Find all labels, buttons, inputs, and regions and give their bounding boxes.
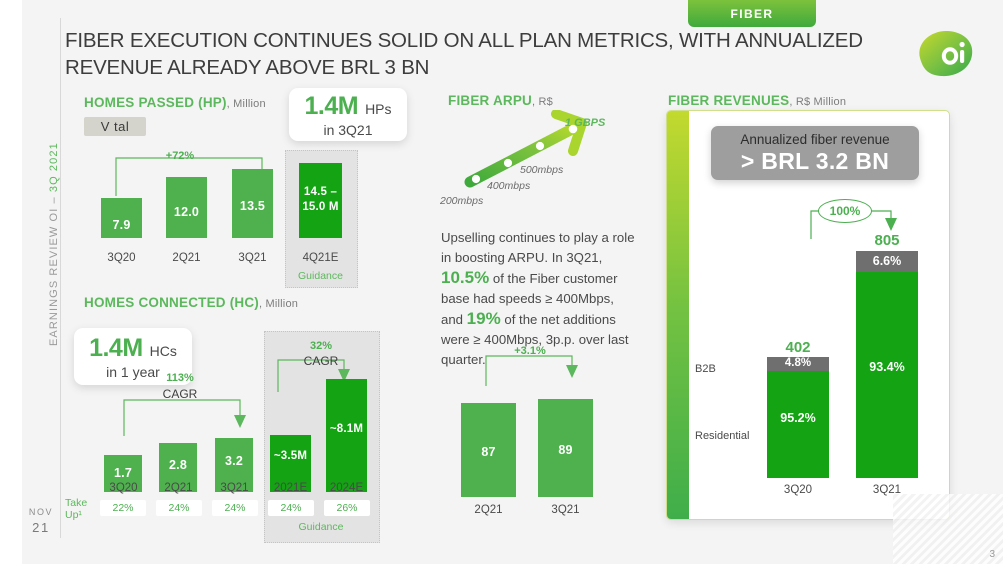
hp-bar-value-2: 13.5 [232,199,273,213]
fiber-arpu-heading-sub: , R$ [532,96,553,108]
hp-guidance-label: Guidance [290,270,351,282]
hc-bar-value-2: 3.2 [215,454,253,468]
hc-bar-value-1: 2.8 [159,458,197,472]
slide: EARNINGS REVIEW OI – 3Q 2021 NOV 21 FIBE… [0,0,1003,564]
hc-bar-value-3: ~3.5M [270,450,311,462]
revenue-residential-share-3q20: 95.2% [767,411,829,425]
hc-axis-label-4: 2024E [316,482,377,494]
oi-logo [912,28,974,78]
deck-date-month: NOV [22,505,60,520]
take-up-label: Take Up¹ [65,497,99,521]
take-up-cell-3: 24% [268,500,314,516]
hp-bar-value-0: 7.9 [101,218,142,232]
arpu-growth-label: +3.1% [495,345,565,357]
speed-label-1: 400mbps [487,180,530,192]
revenue-residential-segment-3q20: 95.2% [767,371,829,478]
fiber-arpu-heading: FIBER ARPU, R$ [448,93,553,108]
arpu-axis-label-0: 2Q21 [458,504,519,516]
hp-bar-3q20: 7.9 [101,198,142,238]
revenue-b2b-share-3q21: 6.6% [856,254,918,268]
revenue-b2b-segment-3q20: 4.8% [767,357,829,371]
hp-bar-value-1: 12.0 [166,205,207,219]
fiber-tag: FIBER [688,0,816,27]
hp-bar-4q21e: 14.5 – 15.0 M [299,163,342,238]
deck-date-year: 21 [22,520,60,535]
homes-connected-heading: HOMES CONNECTED (HC), Million [84,295,298,310]
hp-axis-label-1: 2Q21 [156,252,217,264]
hp-axis-label-3: 4Q21E [290,252,351,264]
take-up-label-line1: Take [65,497,99,509]
homes-passed-heading: HOMES PASSED (HP), Million [84,95,266,110]
revenue-axis-label-0: 3Q20 [767,484,829,496]
homes-connected-heading-sub: , Million [259,298,298,310]
deck-label-prefix: EARNINGS REVIEW OI – [48,192,60,346]
revenue-total-3q21: 805 [856,232,918,249]
corner-hatch-decoration [893,494,1003,564]
hp-axis-label-0: 3Q20 [91,252,152,264]
page-number: 3 [989,549,995,560]
arpu-bar-value-0: 87 [461,445,516,459]
arpu-bar-value-1: 89 [538,443,593,457]
hc-callout-unit: HCs [150,343,177,359]
hp-bar-3q21: 13.5 [232,169,273,238]
speed-label-2: 500mbps [520,164,563,176]
hc-axis-label-1: 2Q21 [148,482,209,494]
hc-cagr-fwd-label: CAGR [296,354,346,368]
annualized-revenue-badge: Annualized fiber revenue > BRL 3.2 BN [711,126,919,180]
hc-axis-label-3: 2021E [260,482,321,494]
hp-growth-label: +72% [150,150,210,162]
take-up-cell-4: 26% [324,500,370,516]
hc-cagr-fwd-pct: 32% [296,340,346,352]
arpu-text-part1: Upselling continues to play a role in bo… [441,230,635,265]
revenue-growth-label: 100% [818,199,872,223]
arpu-bar-2q21: 87 [461,403,516,497]
revenue-residential-share-3q21: 93.4% [856,360,918,374]
hp-bar-2q21: 12.0 [166,177,207,238]
annualized-revenue-value: > BRL 3.2 BN [741,148,889,175]
left-rail: EARNINGS REVIEW OI – 3Q 2021 [22,0,60,564]
hp-callout-unit: HPs [365,101,391,117]
arpu-axis-label-1: 3Q21 [535,504,596,516]
homes-passed-heading-main: HOMES PASSED (HP) [84,95,227,110]
revenue-series-label-b2b: B2B [695,363,716,375]
take-up-cell-2: 24% [212,500,258,516]
fiber-revenues-heading-main: FIBER REVENUES [668,93,789,108]
hp-callout-card: 1.4M HPs in 3Q21 [289,88,407,141]
arpu-bar-3q21: 89 [538,399,593,497]
arpu-highlight-1: 10.5% [441,268,489,287]
take-up-cell-0: 22% [100,500,146,516]
speed-label-0: 200mbps [440,195,483,207]
hp-bar-value-3: 14.5 – 15.0 M [299,185,342,215]
rail-divider [60,18,61,538]
deck-vertical-label: EARNINGS REVIEW OI – 3Q 2021 [48,46,60,346]
deck-date: NOV 21 [22,505,60,535]
hc-callout-line1: 1.4M HCs [89,334,177,363]
homes-connected-heading-main: HOMES CONNECTED (HC) [84,295,259,310]
deck-label-period: 3Q 2021 [48,142,60,192]
homes-passed-heading-sub: , Million [227,98,266,110]
fiber-revenues-heading-sub: , R$ Million [789,96,846,108]
hc-bar-value-4: ~8.1M [326,423,367,435]
hc-cagr-hist-pct: 113% [150,372,210,384]
revenue-total-3q20: 402 [767,339,829,356]
hp-callout-line1: 1.4M HPs [304,92,391,121]
hc-guidance-label: Guidance [264,521,378,533]
panel-accent-stripe [667,111,689,519]
hp-callout-line2: in 3Q21 [323,122,372,138]
hc-bar-2024e: ~8.1M [326,379,367,492]
revenue-series-label-residential: Residential [695,430,749,442]
left-white-margin [0,0,22,564]
take-up-label-line2: Up¹ [65,509,99,521]
revenue-residential-segment-3q21: 93.4% [856,272,918,478]
hc-axis-label-2: 3Q21 [204,482,265,494]
speed-label-3: 1 GBPS [565,117,605,129]
arpu-highlight-2: 19% [467,309,501,328]
hc-cagr-hist-label: CAGR [150,387,210,401]
revenue-b2b-share-3q20: 4.8% [767,357,829,369]
fiber-revenues-heading: FIBER REVENUES, R$ Million [668,93,846,108]
hc-callout-value: 1.4M [89,334,143,363]
page-title: FIBER EXECUTION CONTINUES SOLID ON ALL P… [65,27,910,81]
hc-bar-value-0: 1.7 [104,466,142,480]
hp-axis-label-2: 3Q21 [222,252,283,264]
vtal-badge: V tal [84,117,146,136]
revenue-b2b-segment-3q21: 6.6% [856,251,918,272]
hp-callout-value: 1.4M [304,92,358,121]
fiber-arpu-heading-main: FIBER ARPU [448,93,532,108]
hc-axis-label-0: 3Q20 [93,482,154,494]
take-up-cell-1: 24% [156,500,202,516]
annualized-revenue-caption: Annualized fiber revenue [740,132,889,147]
